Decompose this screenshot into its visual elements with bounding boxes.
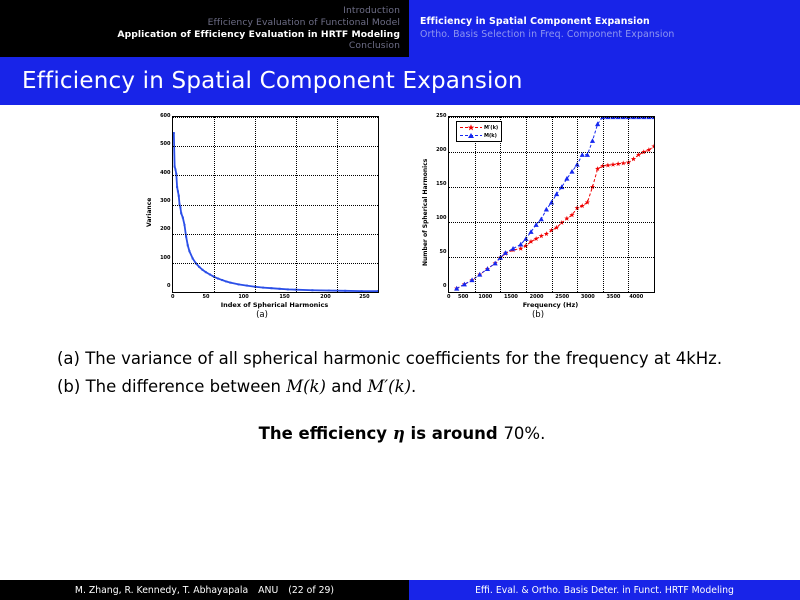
figure-b: Number of Spherical Harmonics 2502001501…: [421, 116, 655, 336]
nav-section-conclusion[interactable]: Conclusion: [349, 40, 400, 52]
series-marker: [621, 160, 626, 165]
figure-a-xticks: 050100150200250: [172, 293, 377, 300]
series-marker: [590, 184, 595, 189]
math-m-prime-k: M′(k): [368, 377, 412, 396]
series-marker: [177, 190, 179, 192]
series-marker: [610, 162, 615, 167]
x-tick-label: 250: [359, 294, 369, 300]
series-marker: [180, 212, 182, 214]
series-marker: [202, 269, 204, 271]
x-tick-label: 0: [171, 294, 174, 300]
series-marker: [221, 279, 223, 281]
y-tick-label: 100: [160, 256, 170, 261]
y-tick-label: 0: [167, 284, 170, 289]
x-tick-label: 200: [320, 294, 330, 300]
figure-a: Variance 6005004003002001000 05010015020…: [145, 116, 379, 336]
caption-item-a: (a) The variance of all spherical harmon…: [57, 346, 747, 372]
figure-b-legend: M′(k) M(k): [456, 121, 502, 142]
nav-section-introduction[interactable]: Introduction: [343, 5, 400, 17]
series-marker: [539, 233, 544, 238]
series-marker: [205, 271, 207, 273]
y-tick-label: 100: [436, 216, 446, 221]
series-marker: [518, 246, 523, 251]
series-marker: [575, 162, 580, 167]
series-marker: [187, 244, 189, 246]
x-tick-label: 3500: [606, 294, 620, 300]
footer-page-number: (22 of 29): [288, 585, 334, 596]
y-tick-label: 600: [160, 114, 170, 119]
series-marker: [238, 283, 240, 285]
series-marker: [188, 250, 190, 252]
figure-a-axes: [172, 116, 379, 293]
caption-item-b-prefix: (b) The difference between: [57, 377, 286, 396]
figure-b-caption: (b): [532, 310, 544, 320]
x-tick-label: 0: [447, 294, 450, 300]
x-tick-label: 2000: [530, 294, 544, 300]
figure-a-plot-area: [173, 117, 378, 292]
y-tick-label: 150: [436, 182, 446, 187]
series-marker: [626, 160, 631, 165]
footer-institution: ANU: [258, 585, 278, 596]
series-marker: [605, 163, 610, 168]
beamer-headline: Introduction Efficiency Evaluation of Fu…: [0, 0, 800, 57]
figure-a-ylabel: Variance: [145, 116, 153, 309]
series-marker: [559, 184, 564, 189]
series-marker: [179, 206, 181, 208]
series-marker: [246, 285, 248, 287]
x-tick-label: 50: [203, 294, 210, 300]
y-tick-label: 400: [160, 171, 170, 176]
body-text: (a) The variance of all spherical harmon…: [57, 346, 747, 443]
y-tick-label: 0: [443, 284, 446, 289]
section-navigation[interactable]: Introduction Efficiency Evaluation of Fu…: [0, 0, 409, 57]
x-tick-label: 4000: [629, 294, 643, 300]
series-marker: [590, 138, 595, 143]
series-marker: [217, 278, 219, 280]
series-marker: [544, 207, 549, 212]
frame-title-bar: Efficiency in Spatial Component Expansio…: [0, 57, 800, 105]
eta-symbol: η: [393, 424, 405, 443]
series-marker: [254, 286, 256, 288]
x-tick-label: 150: [279, 294, 289, 300]
series-marker: [580, 203, 585, 208]
series-marker: [523, 236, 528, 241]
figure-b-yticks: 250200150100500: [429, 116, 448, 291]
y-tick-label: 50: [440, 250, 447, 255]
footer-short-title: Effi. Eval. & Ortho. Basis Deter. in Fun…: [475, 585, 734, 596]
x-tick-label: 1000: [478, 294, 492, 300]
caption-item-b-suffix: .: [411, 377, 416, 396]
nav-subsection-ortho-basis-selection[interactable]: Ortho. Basis Selection in Freq. Componen…: [420, 29, 674, 42]
page-title: Efficiency in Spatial Component Expansio…: [22, 68, 523, 94]
series-marker: [564, 216, 569, 221]
nav-subsection-spatial-component-expansion[interactable]: Efficiency in Spatial Component Expansio…: [420, 16, 650, 29]
series-marker: [580, 152, 585, 157]
efficiency-mid: is around: [405, 424, 504, 443]
series-marker: [287, 288, 289, 290]
series-marker: [646, 147, 651, 152]
series-marker: [176, 186, 178, 188]
series-marker: [182, 217, 184, 219]
beamer-footline: M. Zhang, R. Kennedy, T. Abhayapala ANU …: [0, 580, 800, 600]
figure-a-xlabel: Index of Spherical Harmonics: [172, 301, 377, 309]
footer-author-block: M. Zhang, R. Kennedy, T. Abhayapala ANU …: [0, 580, 409, 600]
legend-entry-m: M(k): [460, 132, 498, 139]
series-marker: [651, 144, 654, 149]
legend-label-m-prime: M′(k): [484, 125, 498, 131]
series-marker: [575, 205, 580, 210]
series-marker: [179, 204, 181, 206]
caption-item-b-mid: and: [326, 377, 368, 396]
series-marker: [549, 200, 554, 205]
series-marker: [173, 132, 175, 134]
footer-authors: M. Zhang, R. Kennedy, T. Abhayapala: [75, 585, 248, 596]
figure-a-caption: (a): [256, 310, 268, 320]
series-marker: [185, 236, 187, 238]
series-line: [457, 146, 654, 288]
series-marker: [270, 287, 272, 289]
legend-label-m: M(k): [484, 133, 497, 139]
series-marker: [279, 288, 281, 290]
series-marker: [328, 290, 330, 292]
x-tick-label: 100: [238, 294, 248, 300]
x-tick-label: 2500: [555, 294, 569, 300]
nav-section-efficiency-evaluation[interactable]: Efficiency Evaluation of Functional Mode…: [208, 17, 400, 29]
figure-row: Variance 6005004003002001000 05010015020…: [0, 116, 800, 336]
figure-b-plotbox: Number of Spherical Harmonics 2502001501…: [421, 116, 655, 309]
figure-a-plotbox: Variance 6005004003002001000 05010015020…: [145, 116, 379, 309]
subsection-navigation[interactable]: Efficiency in Spatial Component Expansio…: [409, 0, 800, 57]
figure-a-yticks: 6005004003002001000: [153, 116, 172, 291]
series-marker: [198, 266, 200, 268]
series-marker: [361, 290, 363, 292]
y-tick-label: 250: [436, 114, 446, 119]
legend-swatch-red: [460, 124, 482, 131]
caption-item-b: (b) The difference between M(k) and M′(k…: [57, 374, 747, 400]
series-marker: [229, 282, 231, 284]
series-marker: [311, 289, 313, 291]
series-marker: [178, 195, 180, 197]
figure-b-axes: M′(k) M(k): [448, 116, 655, 293]
series-marker: [183, 224, 185, 226]
y-tick-label: 200: [160, 227, 170, 232]
figure-b-xlabel: Frequency (Hz): [448, 301, 653, 309]
series-marker: [195, 262, 197, 264]
figure-b-ylabel: Number of Spherical Harmonics: [421, 116, 429, 309]
y-tick-label: 500: [160, 142, 170, 147]
series-marker: [209, 274, 211, 276]
series-line: [457, 117, 654, 289]
series-marker: [510, 246, 515, 251]
series-marker: [174, 169, 176, 171]
series-line: [174, 133, 378, 291]
efficiency-prefix: The efficiency: [259, 424, 393, 443]
figure-b-plot-area: [449, 117, 654, 292]
legend-swatch-blue: [460, 132, 482, 139]
x-tick-label: 1500: [504, 294, 518, 300]
math-m-k: M(k): [286, 377, 326, 396]
x-tick-label: 500: [458, 294, 468, 300]
x-tick-label: 3000: [581, 294, 595, 300]
series-marker: [192, 257, 194, 259]
y-tick-label: 300: [160, 199, 170, 204]
footer-title-block: Effi. Eval. & Ortho. Basis Deter. in Fun…: [409, 580, 800, 600]
legend-entry-m-prime: M′(k): [460, 124, 498, 131]
series-marker: [174, 166, 176, 168]
series-marker: [344, 290, 346, 292]
series-marker: [539, 217, 544, 222]
series-marker: [616, 161, 621, 166]
series-marker: [631, 156, 636, 161]
efficiency-statement: The efficiency η is around 70%.: [57, 424, 747, 443]
nav-section-application-hrtf[interactable]: Application of Efficiency Evaluation in …: [117, 29, 400, 41]
series-marker: [559, 220, 564, 225]
series-marker: [544, 231, 549, 236]
series-marker: [295, 289, 297, 291]
series-marker: [262, 287, 264, 289]
series-marker: [213, 276, 215, 278]
series-marker: [225, 281, 227, 283]
y-tick-label: 200: [436, 148, 446, 153]
figure-b-xticks: 05001000150020002500300035004000: [448, 293, 653, 300]
efficiency-value: 70%.: [503, 424, 545, 443]
series-marker: [377, 290, 378, 292]
series-marker: [175, 173, 177, 175]
slide-content: Variance 6005004003002001000 05010015020…: [0, 108, 800, 600]
